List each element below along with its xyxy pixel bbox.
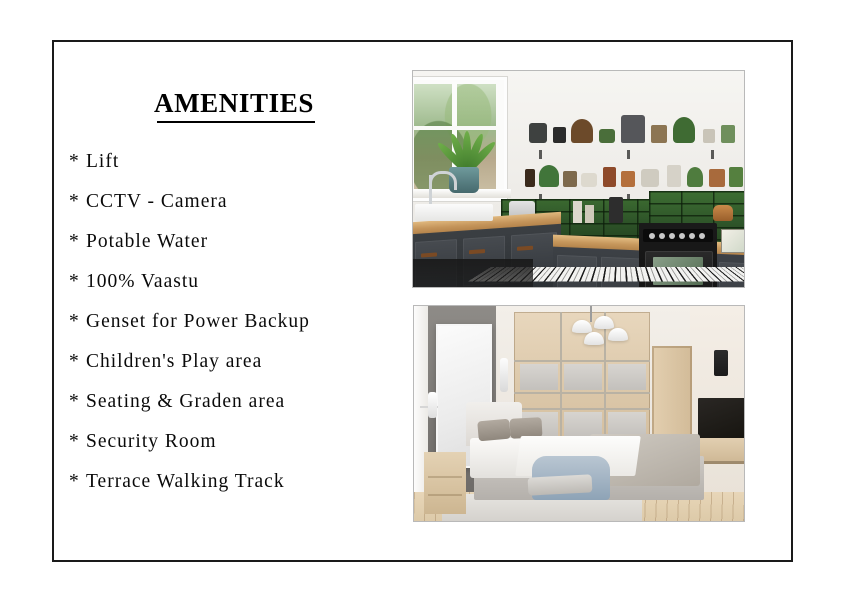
bedroom-pillow bbox=[477, 419, 511, 442]
bedroom-photo bbox=[413, 305, 745, 522]
wardrobe-glass-panel bbox=[564, 364, 602, 390]
kitchen-copper-kettle bbox=[713, 205, 733, 221]
wardrobe-glass-panel bbox=[520, 364, 558, 390]
kitchen-shelf-upper bbox=[517, 143, 744, 150]
kitchen-shelf-item bbox=[529, 123, 547, 143]
kitchen-range-knob bbox=[659, 233, 665, 239]
kitchen-shelf-item bbox=[651, 125, 667, 143]
bedroom-pendant-light bbox=[608, 328, 628, 341]
list-item-label: Lift bbox=[86, 151, 119, 172]
kitchen-photo bbox=[412, 70, 745, 288]
kitchen-cabinet-handle bbox=[725, 274, 739, 279]
wardrobe-panel-divider bbox=[514, 392, 650, 394]
amenities-panel: AMENITIES *Lift *CCTV - Camera *Potable … bbox=[54, 42, 414, 560]
bedroom-chair-seat bbox=[528, 474, 593, 495]
kitchen-photo-content bbox=[413, 71, 744, 287]
kitchen-sink bbox=[415, 204, 493, 221]
kitchen-picture-frame bbox=[721, 229, 744, 253]
bedroom-wall-sconce bbox=[428, 392, 437, 418]
kitchen-shelf-bracket bbox=[539, 150, 542, 159]
kitchen-shelf-bowl bbox=[581, 173, 597, 187]
list-item: *Genset for Power Backup bbox=[69, 302, 414, 342]
kitchen-shelf-pot bbox=[709, 169, 725, 187]
list-item-label: CCTV - Camera bbox=[86, 191, 228, 212]
kitchen-range-knob bbox=[699, 233, 705, 239]
asterisk-bullet-icon: * bbox=[69, 422, 86, 462]
nightstand-drawer-line bbox=[428, 494, 462, 496]
kitchen-shelf-item bbox=[571, 119, 593, 143]
bedroom-pendant-light bbox=[594, 316, 614, 329]
kitchen-range-knob bbox=[679, 233, 685, 239]
kitchen-shelf-item bbox=[563, 171, 577, 187]
bedroom-nightstand bbox=[424, 452, 466, 514]
kitchen-shelf-item bbox=[621, 115, 645, 143]
kitchen-jar bbox=[585, 205, 594, 223]
list-item-label: 100% Vaastu bbox=[86, 271, 199, 292]
asterisk-bullet-icon: * bbox=[69, 462, 86, 502]
list-item-label: Security Room bbox=[86, 431, 217, 452]
list-item-label: Potable Water bbox=[86, 231, 208, 252]
list-item: *100% Vaastu bbox=[69, 262, 414, 302]
kitchen-shelf-bowl bbox=[641, 169, 659, 187]
bedroom-wall-sconce bbox=[500, 358, 508, 392]
kitchen-shelf-item bbox=[621, 171, 635, 187]
list-item: *Seating & Graden area bbox=[69, 382, 414, 422]
kitchen-shelf-plant bbox=[729, 167, 743, 187]
asterisk-bullet-icon: * bbox=[69, 302, 86, 342]
kitchen-window-mullion bbox=[413, 126, 500, 130]
page-title-underline bbox=[157, 121, 315, 123]
kitchen-shelf-plant bbox=[721, 125, 735, 143]
kitchen-range-knob bbox=[689, 233, 695, 239]
list-item: *Security Room bbox=[69, 422, 414, 462]
asterisk-bullet-icon: * bbox=[69, 262, 86, 302]
wardrobe-panel-divider bbox=[514, 360, 650, 362]
list-item-label: Seating & Graden area bbox=[86, 391, 285, 412]
bedroom-wall-speaker bbox=[714, 350, 728, 376]
asterisk-bullet-icon: * bbox=[69, 182, 86, 222]
kitchen-shelf-item bbox=[553, 127, 566, 143]
list-item-label: Terrace Walking Track bbox=[86, 471, 285, 492]
kitchen-shelf-bottle bbox=[603, 167, 616, 187]
kitchen-faucet bbox=[429, 171, 457, 190]
kitchen-range-knob bbox=[649, 233, 655, 239]
wardrobe-glass-panel bbox=[608, 364, 646, 390]
kitchen-shelf-bracket bbox=[711, 150, 714, 159]
kitchen-shelf-plant bbox=[539, 165, 559, 187]
kitchen-shelf-plant bbox=[687, 167, 703, 187]
kitchen-foreground-shadow bbox=[413, 259, 533, 287]
bedroom-television bbox=[698, 398, 744, 440]
kitchen-shelf-item bbox=[599, 129, 615, 143]
bedroom-pendant-rod bbox=[590, 306, 592, 322]
kitchen-shelf-item bbox=[703, 129, 715, 143]
kitchen-shelf-bracket bbox=[627, 150, 630, 159]
page-title: AMENITIES bbox=[154, 88, 314, 119]
kitchen-shelf-glassware bbox=[667, 165, 681, 187]
asterisk-bullet-icon: * bbox=[69, 382, 86, 422]
list-item-label: Children's Play area bbox=[86, 351, 262, 372]
bedroom-photo-content bbox=[414, 306, 744, 521]
wardrobe-panel-divider bbox=[514, 408, 650, 410]
asterisk-bullet-icon: * bbox=[69, 222, 86, 262]
kitchen-jar bbox=[573, 201, 582, 223]
bedroom-pendant-light bbox=[584, 332, 604, 345]
asterisk-bullet-icon: * bbox=[69, 142, 86, 182]
asterisk-bullet-icon: * bbox=[69, 342, 86, 382]
list-item: *Children's Play area bbox=[69, 342, 414, 382]
list-item: *Lift bbox=[69, 142, 414, 182]
kitchen-range-knob bbox=[669, 233, 675, 239]
list-item-label: Genset for Power Backup bbox=[86, 311, 310, 332]
bedroom-pendant-light bbox=[572, 320, 592, 333]
kitchen-shelf-bottle bbox=[525, 169, 535, 187]
kitchen-shelf-plant bbox=[673, 117, 695, 143]
list-item: *Potable Water bbox=[69, 222, 414, 262]
kitchen-utensil-holder bbox=[609, 197, 623, 223]
list-item: *CCTV - Camera bbox=[69, 182, 414, 222]
list-item: *Terrace Walking Track bbox=[69, 462, 414, 502]
amenities-list: *Lift *CCTV - Camera *Potable Water *100… bbox=[69, 142, 414, 502]
nightstand-drawer-line bbox=[428, 476, 462, 478]
